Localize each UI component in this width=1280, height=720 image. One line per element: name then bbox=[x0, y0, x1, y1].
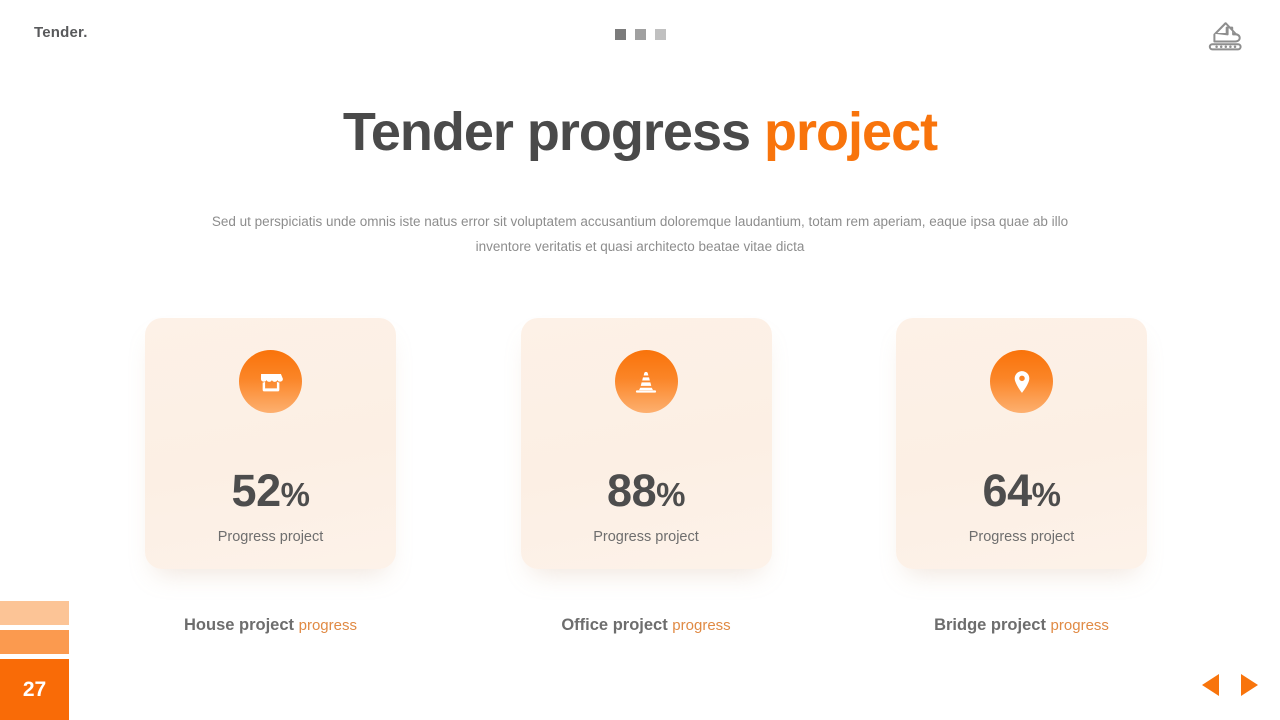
card-body[interactable]: 88% Progress project bbox=[521, 318, 772, 569]
card-caption-sub: progress bbox=[299, 617, 357, 634]
triangle-right-icon[interactable] bbox=[1241, 674, 1258, 696]
page-subtitle: Sed ut perspiciatis unde omnis iste natu… bbox=[190, 210, 1090, 259]
slide-progress-dots bbox=[615, 29, 666, 40]
card-caption: House project progress bbox=[184, 616, 357, 635]
page-title-primary: Tender progress bbox=[343, 102, 750, 162]
page-number: 27 bbox=[23, 678, 46, 702]
progress-value-label: Progress project bbox=[218, 529, 324, 545]
card-caption-sub: progress bbox=[672, 617, 730, 634]
progress-card-office[interactable]: 88% Progress project Office project prog… bbox=[521, 318, 772, 635]
excavator-icon bbox=[1202, 12, 1250, 60]
shop-icon bbox=[239, 350, 302, 413]
card-body[interactable]: 64% Progress project bbox=[896, 318, 1147, 569]
progress-value-label: Progress project bbox=[593, 529, 699, 545]
dot-light-icon bbox=[655, 29, 666, 40]
page-number-badge: 27 bbox=[0, 659, 69, 720]
dot-medium-icon bbox=[635, 29, 646, 40]
triangle-left-icon[interactable] bbox=[1202, 674, 1219, 696]
brand-logo: Tender. bbox=[34, 24, 88, 41]
progress-card-bridge[interactable]: 64% Progress project Bridge project prog… bbox=[896, 318, 1147, 635]
card-caption: Office project progress bbox=[561, 616, 730, 635]
progress-card-list: 52% Progress project House project progr… bbox=[145, 318, 1147, 635]
slide-navigation bbox=[1202, 674, 1258, 696]
traffic-cone-icon bbox=[615, 350, 678, 413]
card-caption-main: House project bbox=[184, 616, 294, 634]
dot-dark-icon bbox=[615, 29, 626, 40]
page-bar-light bbox=[0, 601, 69, 625]
page-number-stack: 27 bbox=[0, 601, 69, 720]
page-title-accent: project bbox=[764, 102, 937, 162]
page-bar-medium bbox=[0, 630, 69, 654]
progress-value: 64% bbox=[983, 468, 1061, 513]
progress-card-house[interactable]: 52% Progress project House project progr… bbox=[145, 318, 396, 635]
card-caption-main: Office project bbox=[561, 616, 667, 634]
card-body[interactable]: 52% Progress project bbox=[145, 318, 396, 569]
page-title: Tender progress project bbox=[0, 103, 1280, 162]
slide: Tender. Tender progress project Sed ut p… bbox=[0, 0, 1280, 720]
map-pin-icon bbox=[990, 350, 1053, 413]
card-caption-main: Bridge project bbox=[934, 616, 1046, 634]
progress-value: 52% bbox=[232, 468, 310, 513]
card-caption: Bridge project progress bbox=[934, 616, 1109, 635]
progress-value-label: Progress project bbox=[969, 529, 1075, 545]
progress-value: 88% bbox=[607, 468, 685, 513]
card-caption-sub: progress bbox=[1051, 617, 1109, 634]
